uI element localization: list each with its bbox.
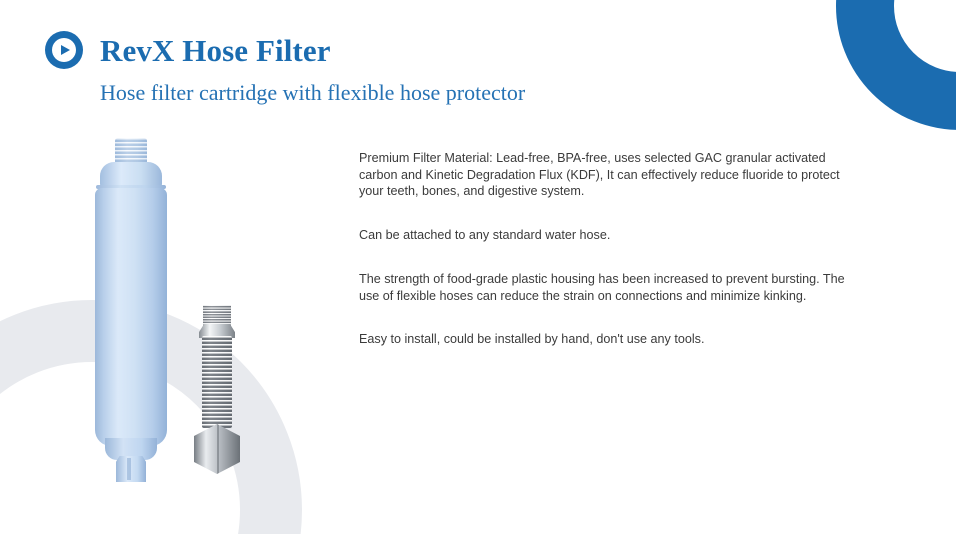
product-info-slide: RevX Hose Filter Hose filter cartridge w… [0,0,956,534]
header: RevX Hose Filter Hose filter cartridge w… [45,27,805,105]
cartridge-body [95,188,167,446]
page-title: RevX Hose Filter [100,35,331,66]
play-icon-inner-circle [52,38,76,62]
hose-filter-cartridge-image [94,138,168,486]
cartridge-hex-outlet [116,456,146,482]
feature-paragraph-installation: Easy to install, could be installed by h… [359,331,864,348]
play-triangle-icon [61,45,70,55]
hose-corrugated-shaft [202,336,232,428]
page-subtitle: Hose filter cartridge with flexible hose… [100,81,805,105]
decorative-blue-ring [836,0,956,130]
product-image-group [80,130,340,500]
feature-paragraph-housing-strength: The strength of food-grade plastic housi… [359,271,864,304]
play-circle-icon [45,31,83,69]
flexible-hose-protector-image [192,305,242,477]
feature-paragraph-attachment: Can be attached to any standard water ho… [359,227,864,244]
cartridge-threaded-neck [115,138,147,165]
hose-hex-nut [194,424,240,474]
header-title-row: RevX Hose Filter [45,27,805,73]
feature-paragraph-filter-material: Premium Filter Material: Lead-free, BPA-… [359,150,864,200]
feature-description-list: Premium Filter Material: Lead-free, BPA-… [359,150,864,348]
hose-threaded-tip [203,305,231,327]
